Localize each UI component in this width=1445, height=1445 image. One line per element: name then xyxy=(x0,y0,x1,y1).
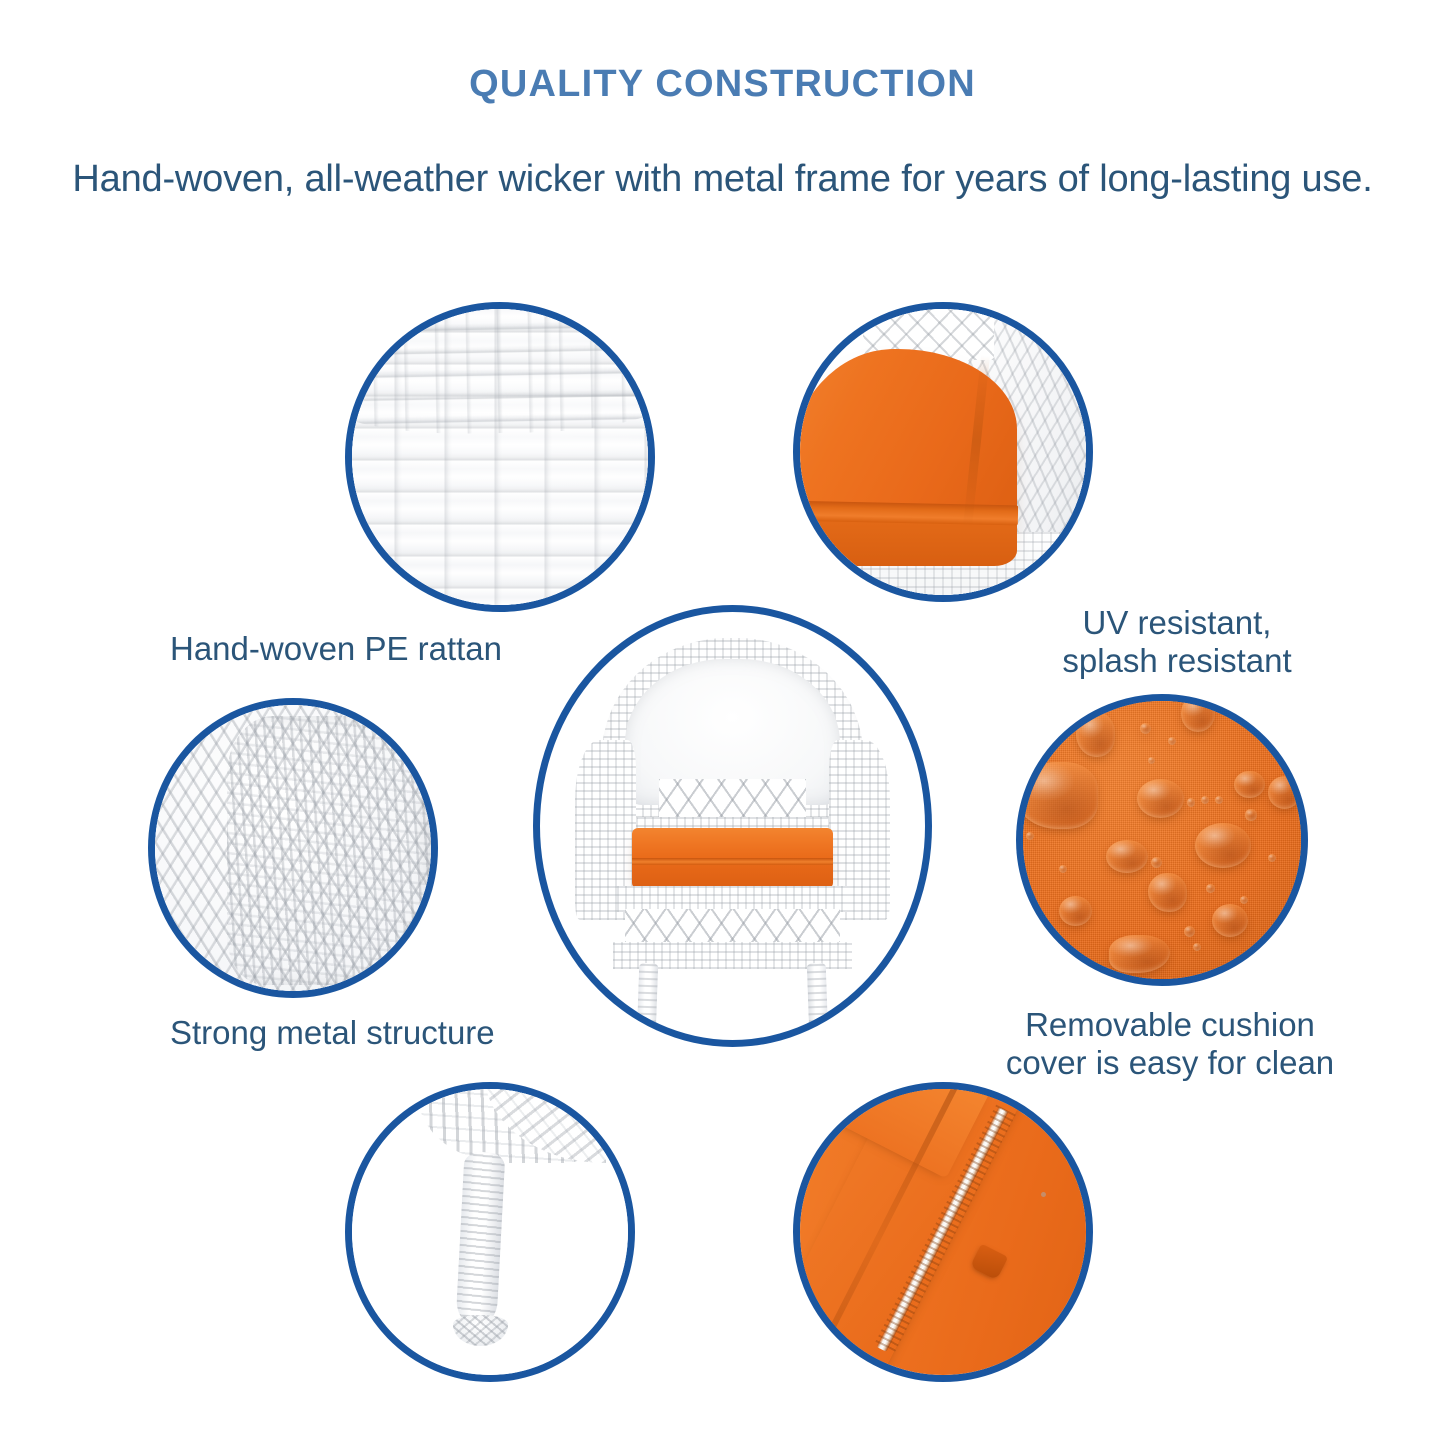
feature-caption-uv-splash-resistant: UV resistant, splash resistant xyxy=(1022,604,1332,681)
feature-caption-hand-woven-pe-rattan: Hand-woven PE rattan xyxy=(170,630,590,668)
page-title: QUALITY CONSTRUCTION xyxy=(0,63,1445,106)
feature-bubble-strong-metal-structure xyxy=(148,698,438,998)
chair-skirt-lattice xyxy=(625,909,841,943)
image-white-wicker-armchair xyxy=(540,612,925,1040)
water-droplet xyxy=(1215,796,1223,804)
water-droplet-group xyxy=(1023,701,1301,979)
chair-back-lattice xyxy=(659,779,805,822)
woven-leg-foot xyxy=(453,1315,508,1346)
water-droplet xyxy=(1140,723,1151,734)
hero-bubble-product xyxy=(533,605,932,1047)
water-droplet xyxy=(1206,884,1214,892)
page-subtitle: Hand-woven, all-weather wicker with meta… xyxy=(0,158,1445,201)
feature-caption-strong-metal-structure: Strong metal structure xyxy=(170,1014,600,1052)
image-white-wicker-chair-leg xyxy=(352,1089,628,1375)
infographic-page: QUALITY CONSTRUCTION Hand-woven, all-wea… xyxy=(0,0,1445,1445)
water-droplet xyxy=(1016,762,1098,829)
image-white-wicker-armrest xyxy=(155,705,431,991)
water-droplet xyxy=(1245,809,1256,820)
water-droplet xyxy=(1137,779,1184,818)
water-droplet xyxy=(1212,904,1248,937)
water-droplet xyxy=(1268,854,1276,862)
water-droplet xyxy=(1151,857,1162,868)
fabric-speck xyxy=(1041,1192,1046,1197)
water-droplet xyxy=(1184,926,1195,937)
feature-bubble-removable-cushion-cover xyxy=(1016,694,1308,986)
water-droplet xyxy=(1181,695,1214,731)
chair-leg-left xyxy=(637,963,659,1036)
feature-bubble-cushion-zipper-detail xyxy=(793,1082,1093,1382)
feature-bubble-hand-woven-pe-rattan xyxy=(345,302,655,612)
chair-leg-right xyxy=(806,963,828,1036)
water-droplet xyxy=(1026,832,1034,840)
water-droplet xyxy=(1201,796,1209,804)
water-droplet xyxy=(1106,840,1148,873)
chair-cushion-welt-seam xyxy=(632,858,832,865)
water-droplet xyxy=(1059,865,1067,873)
wrapped-wicker-leg xyxy=(455,1151,505,1325)
image-white-wicker-weave xyxy=(352,309,648,605)
image-orange-cushion-zipper xyxy=(800,1089,1086,1375)
feature-caption-removable-cushion-cover: Removable cushion cover is easy for clea… xyxy=(985,1006,1355,1083)
chair-front-apron xyxy=(617,886,848,912)
water-droplet xyxy=(1193,943,1201,951)
chair-foot-left xyxy=(634,1029,662,1047)
water-droplet xyxy=(1234,771,1265,799)
water-droplet xyxy=(1076,712,1115,756)
water-droplet xyxy=(1187,798,1195,806)
water-droplet xyxy=(1059,896,1092,927)
water-droplet xyxy=(1195,823,1251,867)
water-droplet xyxy=(1148,873,1187,912)
feature-bubble-uv-splash-resistant xyxy=(793,302,1093,602)
water-droplet xyxy=(1148,757,1155,764)
water-droplet xyxy=(1168,737,1176,745)
water-droplet xyxy=(1109,935,1170,974)
image-water-droplets-on-orange-fabric xyxy=(1023,701,1301,979)
feature-bubble-chair-leg-detail xyxy=(345,1082,635,1382)
image-orange-cushion-on-wicker xyxy=(800,309,1086,595)
water-droplet xyxy=(1240,896,1248,904)
chair-foot-right xyxy=(803,1029,831,1047)
water-droplet xyxy=(1268,776,1301,809)
